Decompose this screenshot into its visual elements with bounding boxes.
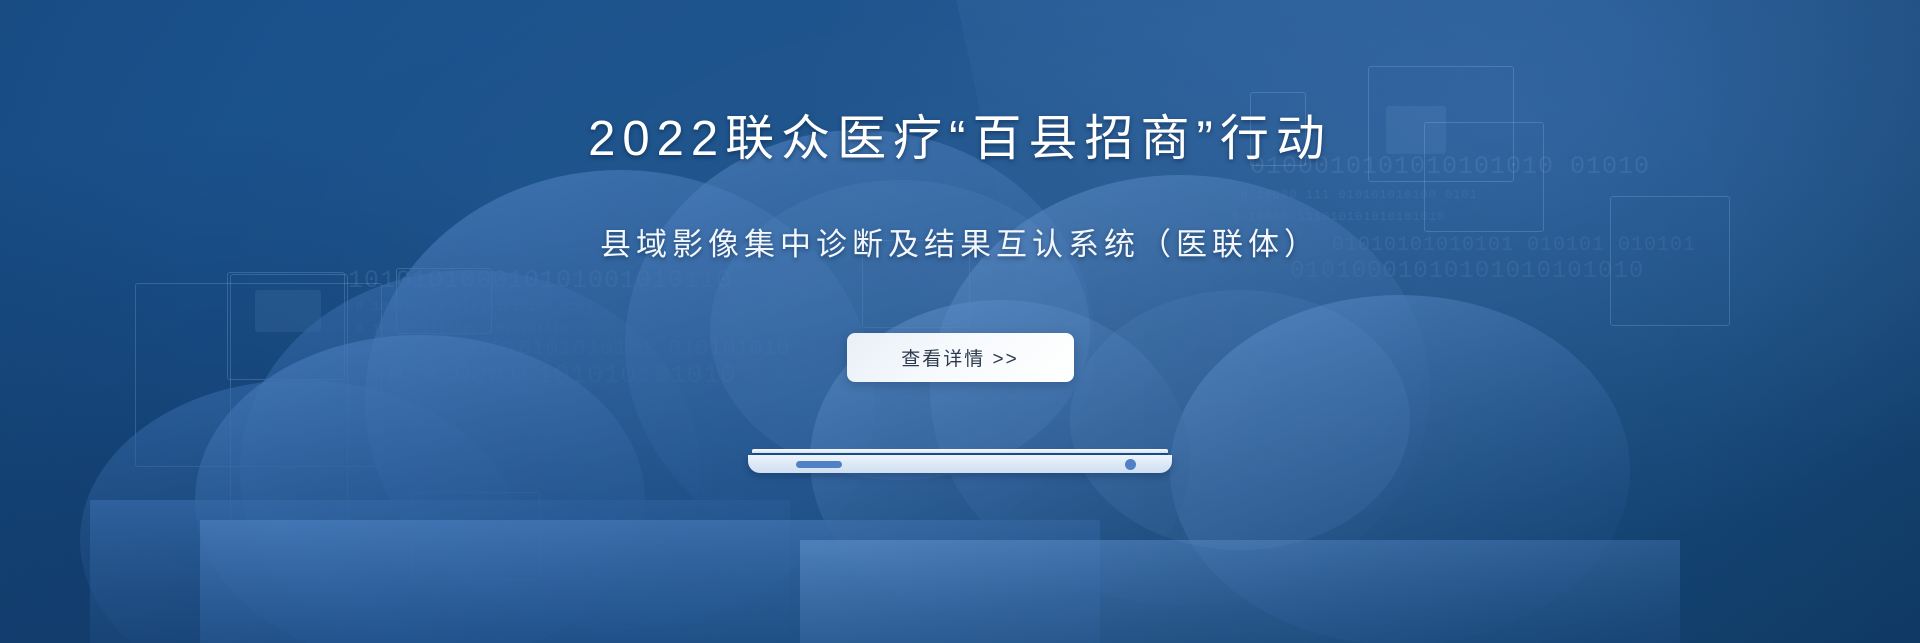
view-details-button[interactable]: 查看详情 >> <box>847 333 1074 382</box>
device-illustration <box>748 449 1172 475</box>
device-body <box>748 455 1172 473</box>
banner-title: 2022联众医疗“百县招商”行动 <box>588 113 1332 167</box>
device-speaker-icon <box>796 461 842 468</box>
banner-content: 2022联众医疗“百县招商”行动 县域影像集中诊断及结果互认系统（医联体） 查看… <box>0 0 1920 643</box>
promo-banner: 101010100010101001010110 0 10000 111 010… <box>0 0 1920 643</box>
device-camera-icon <box>1125 459 1136 470</box>
banner-subtitle: 县域影像集中诊断及结果互认系统（医联体） <box>600 228 1320 262</box>
